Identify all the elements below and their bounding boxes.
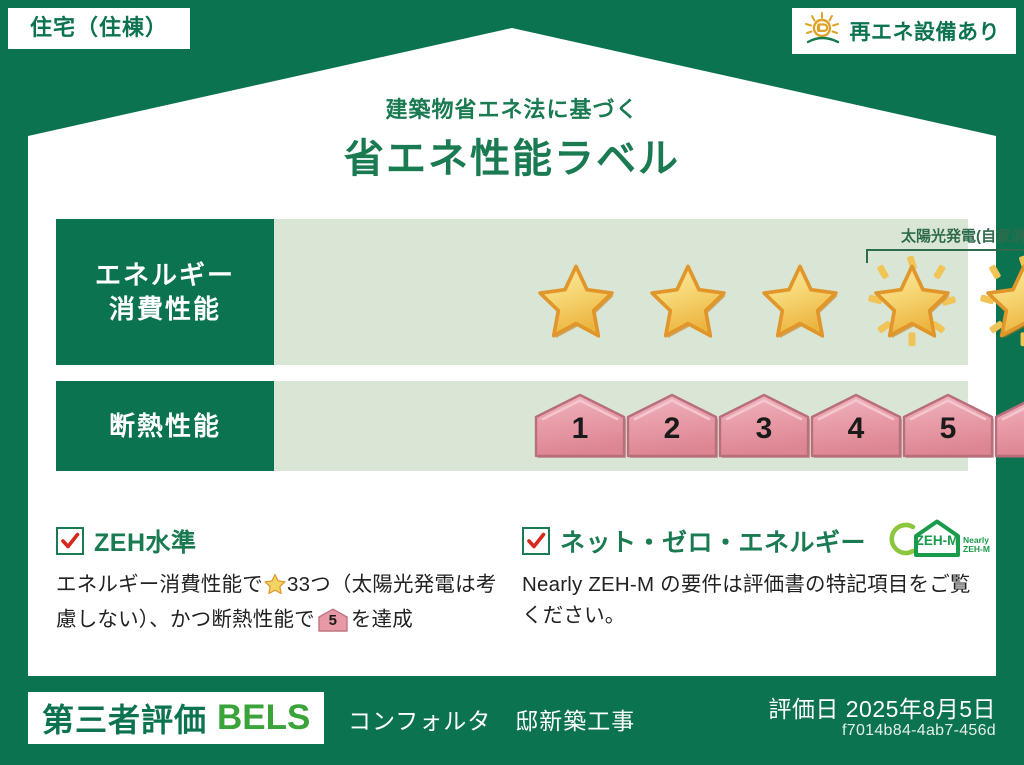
star-filled [852, 243, 972, 361]
insulation-level-number: 4 [808, 414, 904, 444]
page-title: 省エネ性能ラベル [0, 126, 1024, 184]
criteria-left-text-1: エネルギー消費性能で [56, 573, 263, 596]
zeh-m-logo: ZEH-M Nearly ZEH-M [884, 518, 992, 565]
energy-label-line2: 消費性能 [109, 292, 221, 326]
insulation-level-filled: 1 [532, 392, 628, 460]
criteria-left-text-3: を達成 [351, 608, 413, 631]
insulation-level-number: 5 [900, 414, 996, 444]
checkbox-net-zero-energy[interactable] [522, 527, 550, 555]
criteria-left-title: ZEH水準 [94, 523, 197, 559]
insulation-level-number: 3 [716, 414, 812, 444]
insulation-label-line1: 断熱性能 [109, 409, 221, 443]
building-type-tag: 住宅（住棟） [8, 8, 190, 49]
criteria-right-body: Nearly ZEH-M の要件は評価書の特記項目をご覧ください。 [522, 569, 974, 631]
insulation-performance-body: 1 2 [274, 381, 968, 471]
criteria-left-star-count: 3 [287, 573, 299, 596]
bels-logo-ja: 第三者評価 [42, 695, 207, 741]
svg-text:ZEH-M: ZEH-M [916, 533, 959, 548]
gold-star-icon [524, 249, 628, 353]
insulation-level-number: 2 [624, 414, 720, 444]
gold-star-icon [748, 249, 852, 353]
star-rating [274, 243, 1024, 363]
title-subtitle: 建築物省エネ法に基づく [0, 92, 1024, 124]
criteria-right-header: ネット・ゼロ・エネルギー ZEH-M Nearly ZEH-M [522, 524, 974, 558]
energy-performance-body: 太陽光発電(自家消費)分 [274, 219, 968, 365]
criteria-net-zero-energy: ネット・ゼロ・エネルギー ZEH-M Nearly ZEH-M Nearly Z… [522, 524, 974, 631]
sun-renewable-icon [804, 11, 842, 52]
insulation-level-scale: 1 2 [274, 392, 1024, 460]
energy-performance-label: エネルギー 消費性能 [56, 219, 274, 365]
insulation-level-number: 1 [532, 414, 628, 444]
star-filled [964, 243, 1024, 361]
svg-text:ZEH-M: ZEH-M [963, 544, 990, 554]
gold-star-icon [860, 249, 964, 353]
gold-star-icon [972, 249, 1024, 353]
insulation-level-filled: 2 [624, 392, 720, 460]
star-filled [516, 243, 636, 361]
criteria-left-header: ZEH水準 [56, 524, 506, 558]
project-name: コンフォルタ 邸新築工事 [348, 702, 635, 736]
checkbox-zeh-standard[interactable] [56, 527, 84, 555]
footer-bar: 第三者評価 BELS コンフォルタ 邸新築工事 評価日 2025年8月5日 f7… [0, 676, 1024, 765]
criteria-right-title: ネット・ゼロ・エネルギー [560, 523, 866, 559]
criteria-left-body: エネルギー消費性能で33つ（太陽光発電は考慮しない）、かつ断熱性能で5を達成 [56, 569, 506, 635]
insulation-level-filled: 6 [992, 392, 1024, 460]
insulation-level-filled: 5 [900, 392, 996, 460]
inline-house-level-icon: 5 [318, 608, 348, 632]
renewable-badge-label: 再エネ設備あり [850, 16, 1001, 46]
inline-star-icon [264, 573, 286, 604]
bels-logo: 第三者評価 BELS [28, 692, 324, 744]
insulation-level-filled: 4 [808, 392, 904, 460]
criteria-zeh-standard: ZEH水準 エネルギー消費性能で33つ（太陽光発電は考慮しない）、かつ断熱性能で… [56, 524, 506, 635]
renewable-equipment-badge: 再エネ設備あり [792, 8, 1017, 54]
star-filled [740, 243, 860, 361]
evaluation-date: 評価日 2025年8月5日 [768, 690, 996, 724]
star-filled [628, 243, 748, 361]
inline-house-level-number: 5 [318, 613, 348, 628]
energy-performance-row: エネルギー 消費性能 太陽光発電(自家消費)分 [56, 219, 968, 365]
energy-label-line1: エネルギー [95, 258, 235, 292]
insulation-level-number: 6 [992, 414, 1024, 444]
insulation-performance-label: 断熱性能 [56, 381, 274, 471]
gold-star-icon [636, 249, 740, 353]
bels-logo-en: BELS [217, 698, 310, 738]
insulation-performance-row: 断熱性能 [56, 381, 968, 471]
label-canvas: 住宅（住棟） 再エネ設備あり 建築物省エネ法に基づく 省エネ性能 [0, 0, 1024, 765]
evaluation-id: f7014b84-4ab7-456d [842, 722, 996, 740]
insulation-level-filled: 3 [716, 392, 812, 460]
